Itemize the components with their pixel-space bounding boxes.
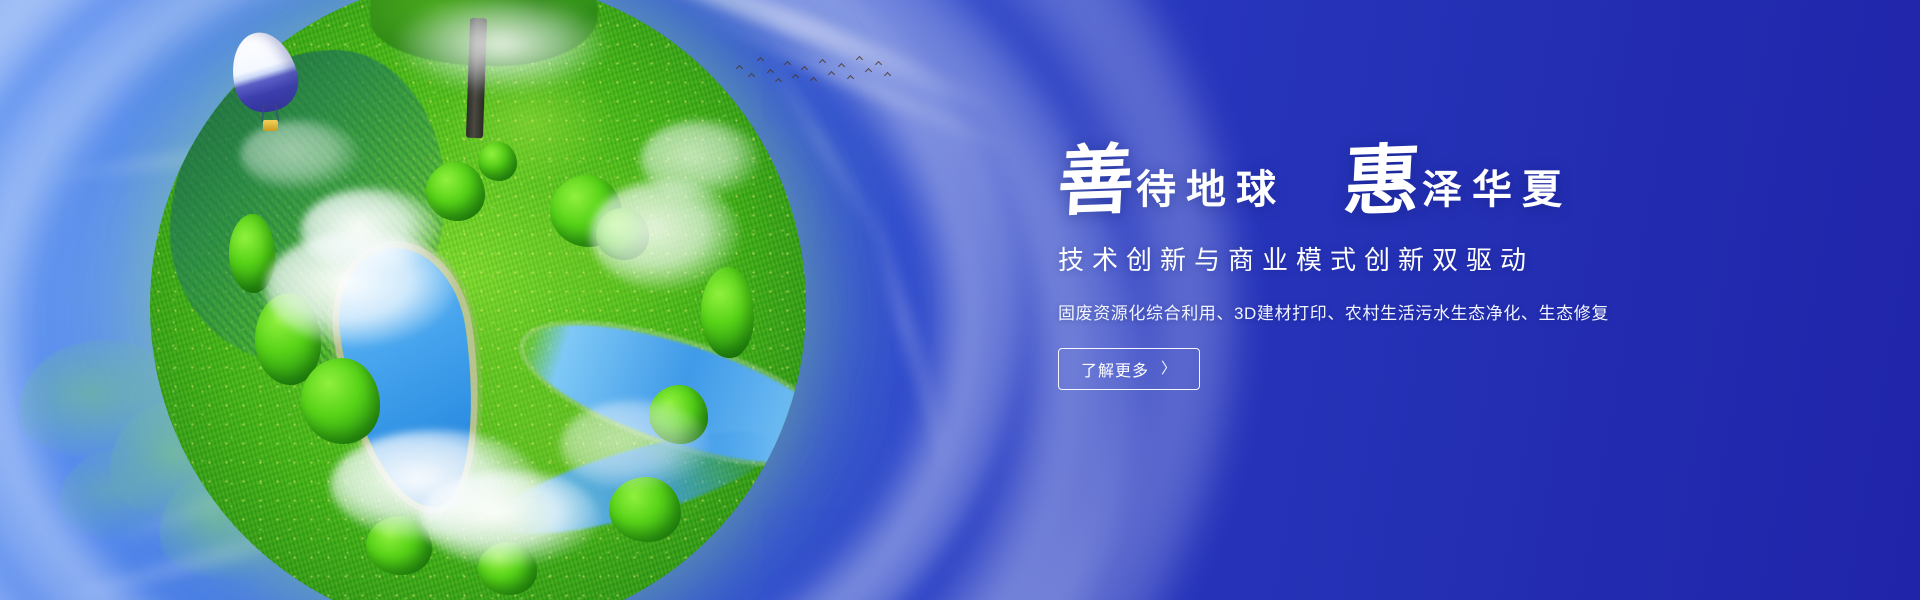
bird-flock-icon <box>735 48 895 98</box>
tree-clump <box>478 142 517 181</box>
bird-icon <box>801 66 808 73</box>
bird-icon <box>828 71 835 78</box>
bird-icon <box>819 59 826 66</box>
hero-banner: 善 待地球 惠 泽华夏 技术创新与商业模式创新双驱动 固废资源化综合利用、3D建… <box>0 0 1920 600</box>
cloud-puff <box>300 188 440 274</box>
headline-big-char-2: 惠 <box>1342 145 1422 218</box>
bird-icon <box>757 57 764 64</box>
hot-air-balloon-icon <box>232 32 296 144</box>
tree-clump <box>426 162 485 221</box>
bird-icon <box>875 61 882 68</box>
balloon-basket <box>263 120 278 131</box>
bird-icon <box>767 69 774 76</box>
bird-icon <box>736 65 743 72</box>
bird-icon <box>856 56 863 63</box>
cloud-puff <box>560 400 710 490</box>
headline-big-char-1: 善 <box>1056 145 1136 218</box>
tree-clump <box>301 358 380 443</box>
cloud-puff <box>420 470 600 566</box>
subtitle: 技术创新与商业模式创新双驱动 <box>1058 240 1758 277</box>
bird-icon <box>792 74 799 81</box>
bird-icon <box>884 72 891 79</box>
learn-more-label: 了解更多 <box>1081 357 1149 381</box>
bird-icon <box>847 75 854 82</box>
banner-copy: 善 待地球 惠 泽华夏 技术创新与商业模式创新双驱动 固废资源化综合利用、3D建… <box>1058 146 1758 390</box>
headline: 善 待地球 惠 泽华夏 <box>1058 146 1758 216</box>
bird-icon <box>810 77 817 84</box>
headline-small-text-1: 待地球 <box>1136 170 1286 216</box>
chevron-right-icon: 〉 <box>1161 361 1177 376</box>
bird-icon <box>838 63 845 70</box>
cloud-puff <box>640 120 760 200</box>
bird-icon <box>775 78 782 85</box>
bird-icon <box>865 68 872 75</box>
learn-more-button[interactable]: 了解更多 〉 <box>1058 348 1200 390</box>
headline-small-text-2: 泽华夏 <box>1422 170 1572 216</box>
tree-clump <box>701 267 753 359</box>
bird-icon <box>748 73 755 80</box>
description: 固废资源化综合利用、3D建材打印、农村生活污水生态净化、生态修复 <box>1058 299 1758 324</box>
bird-icon <box>784 61 791 68</box>
cloud-wisp <box>860 192 960 485</box>
